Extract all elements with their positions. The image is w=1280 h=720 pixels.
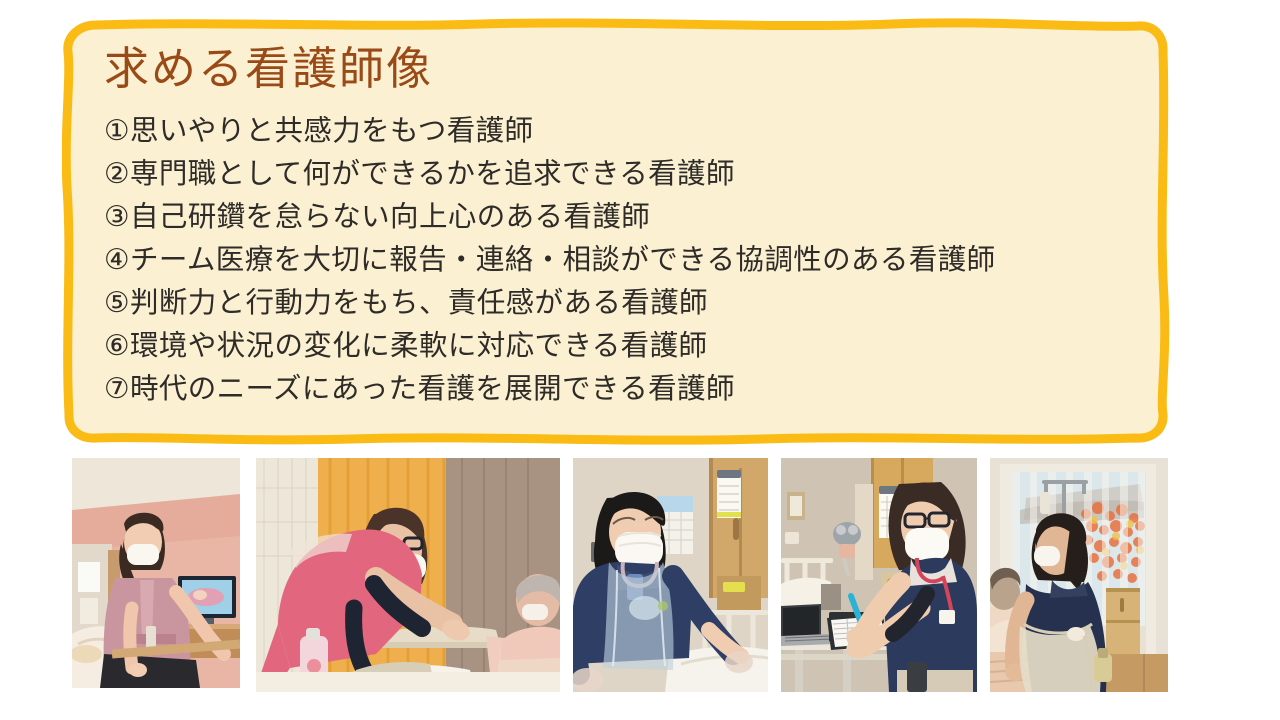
photo-nurse-pink-scrubs-patient-room	[72, 458, 240, 688]
requirements-list: ①思いやりと共感力をもつ看護師 ②専門職として何ができるかを追求できる看護師 ③…	[100, 109, 1144, 410]
list-item: ⑥環境や状況の変化に柔軟に対応できる看護師	[104, 324, 1144, 367]
photo-nurse-pink-scrubs-assisting-elderly-patient	[256, 458, 560, 692]
photo-nurse-navy-scrubs-charting-laptop-cart	[781, 458, 977, 692]
photo-nurse-navy-scrubs-plastic-apron-bedside	[573, 458, 768, 692]
photo-strip	[0, 458, 1280, 692]
list-item: ④チーム医療を大切に報告・連絡・相談ができる協調性のある看護師	[104, 238, 1144, 281]
callout-panel: 求める看護師像 ①思いやりと共感力をもつ看護師 ②専門職として何ができるかを追求…	[62, 18, 1170, 445]
list-item: ⑦時代のニーズにあった看護を展開できる看護師	[104, 367, 1144, 410]
callout-content: 求める看護師像 ①思いやりと共感力をもつ看護師 ②専門職として何ができるかを追求…	[62, 18, 1170, 445]
photo-nurse-navy-scrubs-apron-by-window	[990, 458, 1168, 692]
list-item: ⑤判断力と行動力をもち、責任感がある看護師	[104, 281, 1144, 324]
list-item: ③自己研鑽を怠らない向上心のある看護師	[104, 195, 1144, 238]
page-title: 求める看護師像	[104, 42, 1144, 95]
list-item: ①思いやりと共感力をもつ看護師	[104, 109, 1144, 152]
list-item: ②専門職として何ができるかを追求できる看護師	[104, 152, 1144, 195]
